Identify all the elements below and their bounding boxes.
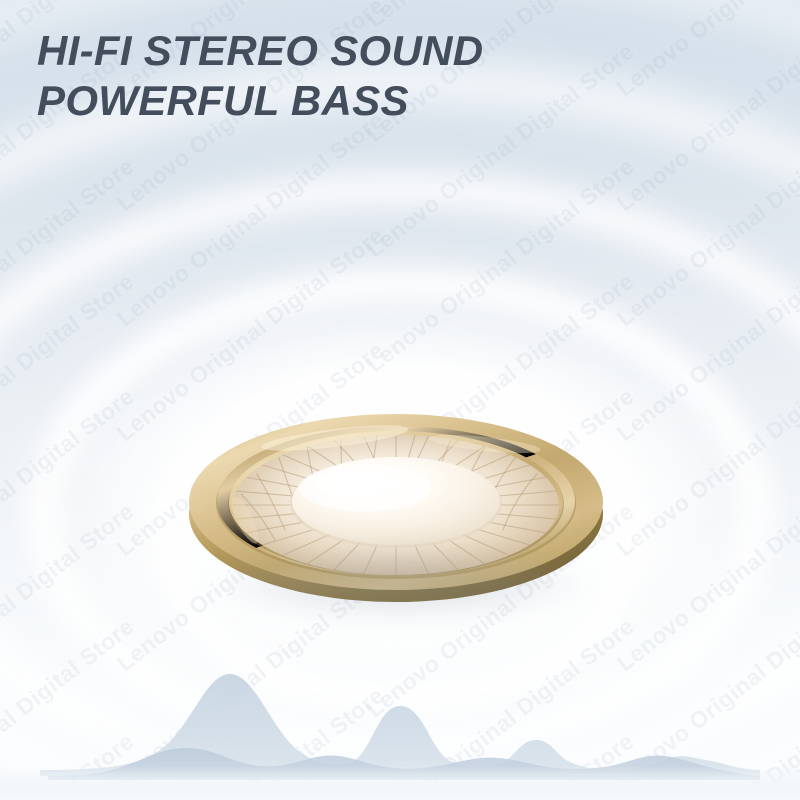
product-banner: Lenovo Original Digital StoreLenovo Orig… <box>0 0 800 800</box>
bottom-fade <box>0 766 800 800</box>
headline-line-2: POWERFUL BASS <box>37 76 483 126</box>
driver-drop-shadow <box>211 552 591 622</box>
speaker-driver <box>185 402 607 607</box>
headline-line-1: HI-FI STEREO SOUND <box>37 26 483 76</box>
headline-block: HI-FI STEREO SOUND POWERFUL BASS <box>37 26 483 126</box>
